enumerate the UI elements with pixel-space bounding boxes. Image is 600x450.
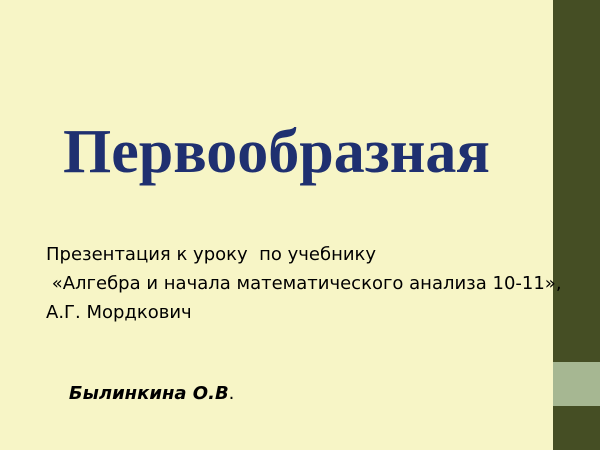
- side-decoration-accent-block: [553, 362, 600, 406]
- author-credit: Былинкина О.В.: [46, 358, 234, 430]
- author-name: Былинкина О.В: [69, 383, 229, 404]
- body-line-3: А.Г. Мордкович: [46, 298, 546, 327]
- body-line-2: «Алгебра и начала математического анализ…: [46, 269, 546, 298]
- author-name-period: .: [229, 383, 235, 404]
- presentation-slide: Первообразная Презентация к уроку по уче…: [0, 0, 600, 450]
- body-line-1: Презентация к уроку по учебнику: [46, 240, 546, 269]
- slide-body-text: Презентация к уроку по учебнику «Алгебра…: [46, 240, 546, 327]
- slide-title: Первообразная: [0, 118, 553, 186]
